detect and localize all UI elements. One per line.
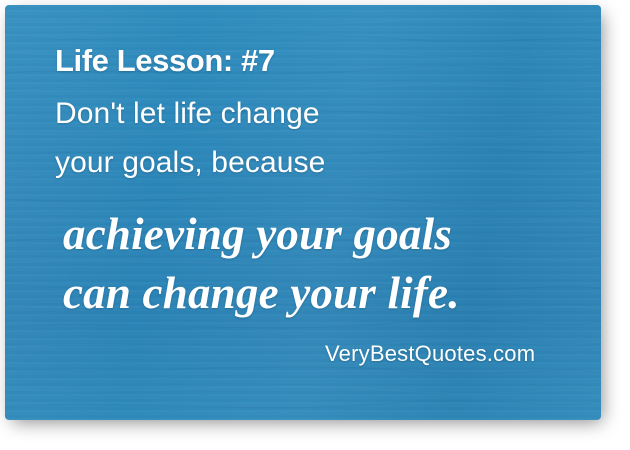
lesson-title: Life Lesson: #7 bbox=[55, 43, 275, 79]
quote-emphasis-line-1: achieving your goals bbox=[63, 208, 452, 260]
poster-stage: Life Lesson: #7 Don't let life change yo… bbox=[0, 0, 630, 450]
attribution-watermark: VeryBestQuotes.com bbox=[325, 341, 535, 367]
quote-line-1: Don't let life change bbox=[55, 97, 320, 131]
quote-card-content: Life Lesson: #7 Don't let life change yo… bbox=[5, 5, 601, 420]
quote-line-2: your goals, because bbox=[55, 146, 325, 180]
quote-emphasis-line-2: can change your life. bbox=[63, 267, 460, 319]
quote-card: Life Lesson: #7 Don't let life change yo… bbox=[5, 5, 601, 420]
